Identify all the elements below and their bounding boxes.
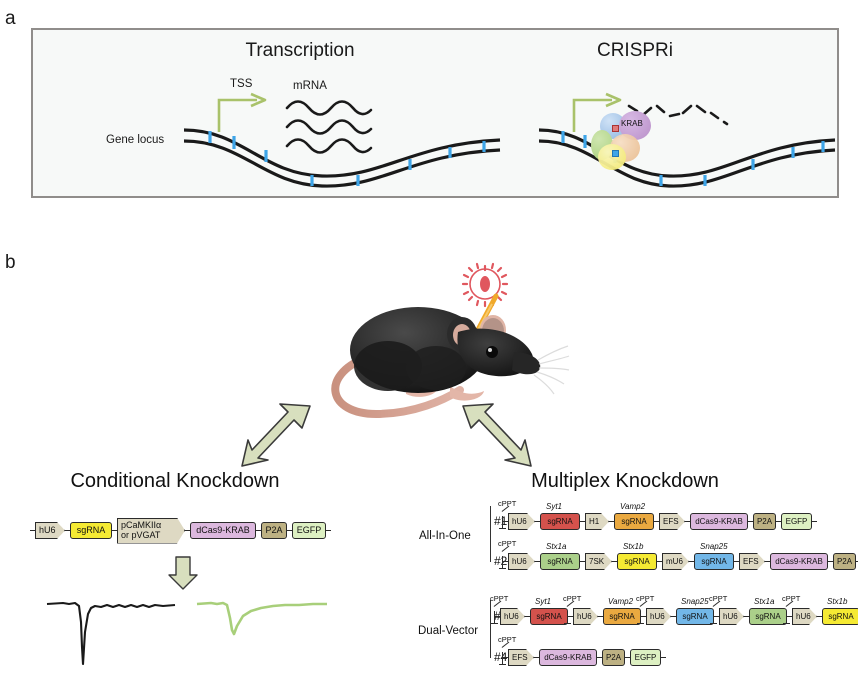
construct-element-hu6: hU6 bbox=[792, 608, 817, 625]
construct-linker bbox=[503, 521, 508, 523]
gene-locus-label: Gene locus bbox=[106, 134, 164, 146]
construct-element-p2a: P2A bbox=[833, 553, 856, 570]
construct-element-dcas9-krab: dCas9-KRAB bbox=[690, 513, 748, 530]
trace-control bbox=[45, 592, 185, 677]
group-bracket-dual-vector bbox=[490, 600, 491, 658]
construct-element-h1: H1 bbox=[585, 513, 609, 530]
construct-element-sgrna: sgRNA bbox=[540, 553, 580, 570]
construct-linker bbox=[734, 561, 739, 563]
gene-target-label: Syt1 bbox=[546, 502, 562, 511]
multiplex-construct-1: hU6sgRNAH1sgRNAEFSdCas9-KRABP2AEGFP bbox=[503, 512, 817, 531]
cppt-label: cPPT bbox=[490, 594, 508, 603]
construct-element-sgrna: sgRNA bbox=[70, 522, 112, 539]
gene-target-label: Syt1 bbox=[535, 597, 551, 606]
construct-element-efs: EFS bbox=[508, 649, 534, 666]
gene-target-label: Snap25 bbox=[700, 542, 728, 551]
construct-element-mu6: mU6 bbox=[662, 553, 689, 570]
construct-element-hu6: hU6 bbox=[646, 608, 671, 625]
construct-linker bbox=[657, 561, 662, 563]
complex-bp-marker-1 bbox=[612, 125, 619, 132]
construct-element-efs: EFS bbox=[739, 553, 765, 570]
gene-target-label: Vamp2 bbox=[620, 502, 645, 511]
construct-element-hu6: hU6 bbox=[500, 608, 525, 625]
mrna-label: mRNA bbox=[293, 80, 327, 92]
construct-element-sgrna: sgRNA bbox=[530, 608, 568, 625]
cppt-label: cPPT bbox=[782, 594, 800, 603]
construct-linker bbox=[326, 530, 331, 532]
construct-element-egfp: EGFP bbox=[292, 522, 326, 539]
tss-label: TSS bbox=[230, 78, 252, 90]
construct-linker bbox=[787, 616, 792, 618]
gene-target-label: Stx1b bbox=[827, 597, 847, 606]
construct-linker bbox=[503, 561, 508, 563]
branch-arrow-left bbox=[232, 400, 318, 470]
construct-element-dcas9-krab: dCas9-KRAB bbox=[539, 649, 597, 666]
gene-target-label: Vamp2 bbox=[608, 597, 633, 606]
construct-element-egfp: EGFP bbox=[781, 513, 812, 530]
mrna-squiggles bbox=[283, 96, 393, 156]
cppt-label: cPPT bbox=[709, 594, 727, 603]
group-label-all-in-one: All-In-One bbox=[419, 530, 471, 542]
complex-bp-marker-2 bbox=[612, 150, 619, 157]
group-label-dual-vector: Dual-Vector bbox=[418, 625, 478, 637]
construct-element-hu6: hU6 bbox=[35, 522, 65, 539]
construct-linker bbox=[654, 521, 659, 523]
multiplex-knockdown-title: Multiplex Knockdown bbox=[480, 470, 770, 493]
construct-element-sgrna: sgRNA bbox=[822, 608, 858, 625]
construct-linker bbox=[568, 616, 573, 618]
construct-linker bbox=[580, 521, 585, 523]
construct-element-sgrna: sgRNA bbox=[603, 608, 641, 625]
krab-blob-label: KRAB bbox=[621, 119, 643, 128]
construct-element-sgrna: sgRNA bbox=[540, 513, 580, 530]
construct-element-p2a: P2A bbox=[602, 649, 625, 666]
construct-linker bbox=[812, 521, 817, 523]
multiplex-construct-2: hU6sgRNA7SKsgRNAmU6sgRNAEFSdCas9-KRABP2A… bbox=[503, 552, 858, 571]
trace-knockdown bbox=[195, 592, 335, 677]
panel-b-letter: b bbox=[5, 252, 16, 274]
tss-arrow-transcription bbox=[215, 92, 275, 134]
multiplex-construct-4: EFSdCas9-KRABP2AEGFP bbox=[503, 648, 666, 667]
gene-target-label: Stx1a bbox=[754, 597, 774, 606]
construct-linker bbox=[641, 616, 646, 618]
conditional-down-arrow bbox=[166, 555, 200, 591]
construct-element-hu6: hU6 bbox=[719, 608, 744, 625]
gene-target-label: Stx1a bbox=[546, 542, 566, 551]
cppt-label: cPPT bbox=[498, 499, 516, 508]
construct-element-sgrna: sgRNA bbox=[617, 553, 657, 570]
conditional-construct: hU6sgRNApCaMKIIαor pVGATdCas9-KRABP2AEGF… bbox=[30, 521, 331, 540]
crispri-protein-complex: KRAB bbox=[588, 110, 668, 180]
construct-linker bbox=[661, 657, 666, 659]
construct-element-p2a: P2A bbox=[753, 513, 776, 530]
construct-element-sgrna: sgRNA bbox=[694, 553, 734, 570]
construct-element-hu6: hU6 bbox=[508, 513, 535, 530]
accessory-blob-yellow bbox=[598, 144, 626, 170]
construct-element-p2a: P2A bbox=[261, 522, 287, 539]
construct-element-pcamkii-or-pvgat: pCaMKIIαor pVGAT bbox=[117, 518, 185, 544]
panel-a-letter: a bbox=[5, 8, 16, 30]
gene-target-label: Snap25 bbox=[681, 597, 709, 606]
multiplex-construct-3: hU6sgRNAhU6sgRNAhU6sgRNAhU6sgRNAhU6sgRNA… bbox=[495, 607, 858, 626]
construct-element-dcas9-krab: dCas9-KRAB bbox=[190, 522, 256, 539]
construct-element-efs: EFS bbox=[659, 513, 685, 530]
construct-element-sgrna: sgRNA bbox=[676, 608, 714, 625]
cppt-label: cPPT bbox=[498, 539, 516, 548]
construct-element-hu6: hU6 bbox=[508, 553, 535, 570]
construct-linker bbox=[503, 657, 508, 659]
group-bracket-all-in-one bbox=[490, 506, 491, 562]
construct-element-sgrna: sgRNA bbox=[614, 513, 654, 530]
construct-element-7sk: 7SK bbox=[585, 553, 612, 570]
construct-element-sgrna: sgRNA bbox=[749, 608, 787, 625]
branch-arrow-right bbox=[455, 400, 541, 470]
construct-element-dcas9-krab: dCas9-KRAB bbox=[770, 553, 828, 570]
cppt-label: cPPT bbox=[636, 594, 654, 603]
construct-linker bbox=[580, 561, 585, 563]
construct-linker bbox=[112, 530, 117, 532]
cppt-label: cPPT bbox=[563, 594, 581, 603]
construct-linker bbox=[714, 616, 719, 618]
construct-element-egfp: EGFP bbox=[630, 649, 661, 666]
construct-linker bbox=[30, 530, 35, 532]
construct-linker bbox=[495, 616, 500, 618]
conditional-knockdown-title: Conditional Knockdown bbox=[30, 470, 320, 493]
cppt-label: cPPT bbox=[498, 635, 516, 644]
construct-element-hu6: hU6 bbox=[573, 608, 598, 625]
transcription-title: Transcription bbox=[200, 40, 400, 62]
crispri-title: CRISPRi bbox=[545, 40, 725, 62]
gene-target-label: Stx1b bbox=[623, 542, 643, 551]
